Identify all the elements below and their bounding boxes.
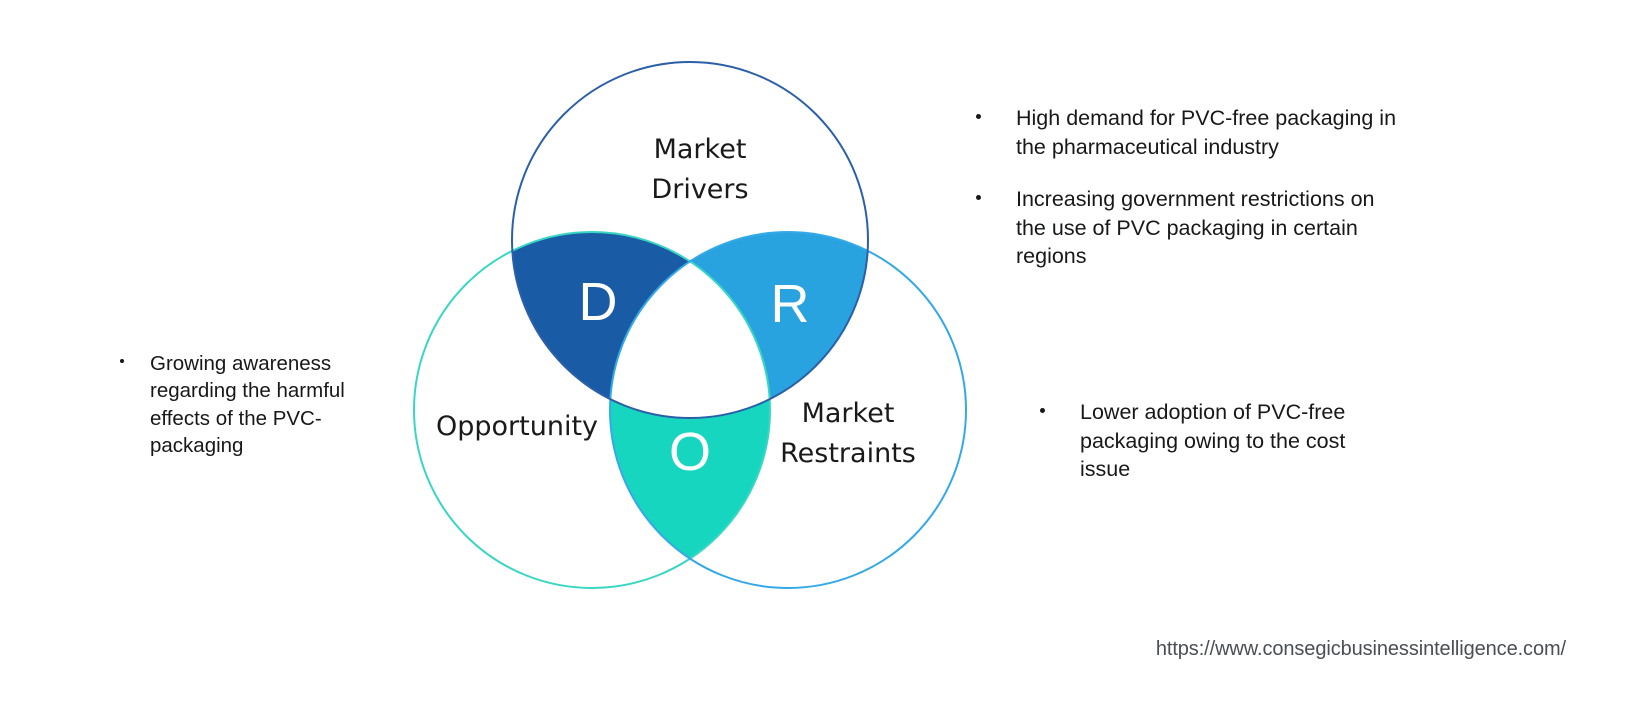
bullet-text: High demand for PVC-free packaging in th… — [1016, 106, 1396, 159]
list-item: Increasing government restrictions on th… — [968, 185, 1398, 271]
list-item: Lower adoption of PVC-free packaging owi… — [1030, 398, 1390, 484]
bullet-text: Lower adoption of PVC-free packaging owi… — [1080, 400, 1345, 481]
label-market-restraints-line1: Market — [802, 398, 895, 429]
source-url[interactable]: https://www.consegicbusinessintelligence… — [1156, 638, 1566, 661]
bullet-list-opportunity: Growing awareness regarding the harmful … — [118, 350, 398, 459]
bullet-dot-icon — [976, 195, 981, 200]
bullets-opportunity: Growing awareness regarding the harmful … — [118, 350, 398, 459]
bullet-dot-icon — [1040, 408, 1045, 413]
label-market-drivers-line2: Drivers — [651, 174, 748, 205]
list-item: Growing awareness regarding the harmful … — [118, 350, 398, 459]
venn-diagram: Market Drivers Opportunity Market Restra… — [370, 30, 1010, 600]
bullet-dot-icon — [976, 114, 981, 119]
bullet-text: Increasing government restrictions on th… — [1016, 187, 1375, 268]
label-opportunity: Opportunity — [436, 411, 598, 442]
bullets-market-restraints: Lower adoption of PVC-free packaging owi… — [1030, 398, 1390, 484]
bullet-list-market-drivers: High demand for PVC-free packaging in th… — [968, 104, 1398, 271]
label-market-drivers-line1: Market — [654, 134, 747, 165]
bullets-market-drivers: High demand for PVC-free packaging in th… — [968, 104, 1398, 295]
lens-letter-o: O — [669, 422, 711, 482]
lens-letter-d: D — [579, 272, 618, 332]
diagram-canvas: Market Drivers Opportunity Market Restra… — [0, 0, 1641, 708]
label-market-restraints-line2: Restraints — [780, 438, 916, 469]
list-item: High demand for PVC-free packaging in th… — [968, 104, 1398, 161]
bullet-list-market-restraints: Lower adoption of PVC-free packaging owi… — [1030, 398, 1390, 484]
bullet-dot-icon — [120, 359, 124, 363]
bullet-text: Growing awareness regarding the harmful … — [150, 352, 345, 457]
lens-letter-r: R — [771, 274, 810, 334]
